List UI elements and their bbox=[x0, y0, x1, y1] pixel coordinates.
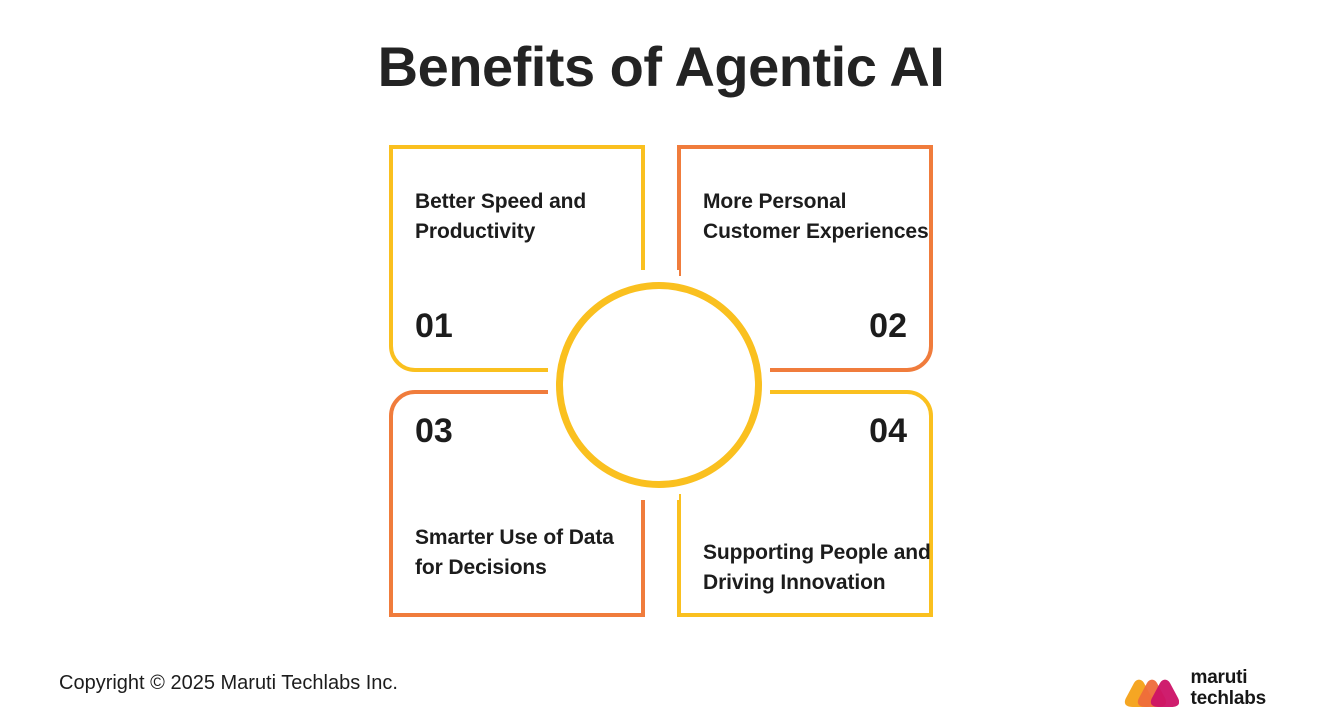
benefits-diagram: Better Speed and Productivity 01 More Pe… bbox=[0, 140, 1322, 630]
logo-line-1: maruti bbox=[1191, 667, 1248, 688]
quadrant-02-number: 02 bbox=[869, 307, 907, 346]
quadrant-03-number: 03 bbox=[415, 412, 453, 451]
quadrant-03-text: Smarter Use of Data for Decisions bbox=[415, 523, 647, 583]
copyright-text: Copyright © 2025 Maruti Techlabs Inc. bbox=[59, 672, 398, 695]
quadrant-02-text: More Personal Customer Experiences bbox=[703, 187, 935, 247]
logo-line-2: techlabs bbox=[1191, 688, 1267, 709]
maruti-techlabs-logo[interactable]: maruti techlabs bbox=[1123, 668, 1267, 709]
quadrant-04-number: 04 bbox=[869, 412, 907, 451]
logo-mark-icon bbox=[1123, 671, 1179, 707]
quadrant-04-text: Supporting People and Driving Innovation bbox=[703, 538, 935, 598]
center-circle bbox=[556, 282, 762, 488]
infographic-page: Benefits of Agentic AI Better Speed and … bbox=[0, 0, 1322, 721]
quadrant-01-number: 01 bbox=[415, 307, 453, 346]
page-title: Benefits of Agentic AI bbox=[0, 36, 1322, 98]
logo-wordmark: maruti techlabs bbox=[1191, 668, 1267, 709]
quadrant-01-text: Better Speed and Productivity bbox=[415, 187, 647, 247]
